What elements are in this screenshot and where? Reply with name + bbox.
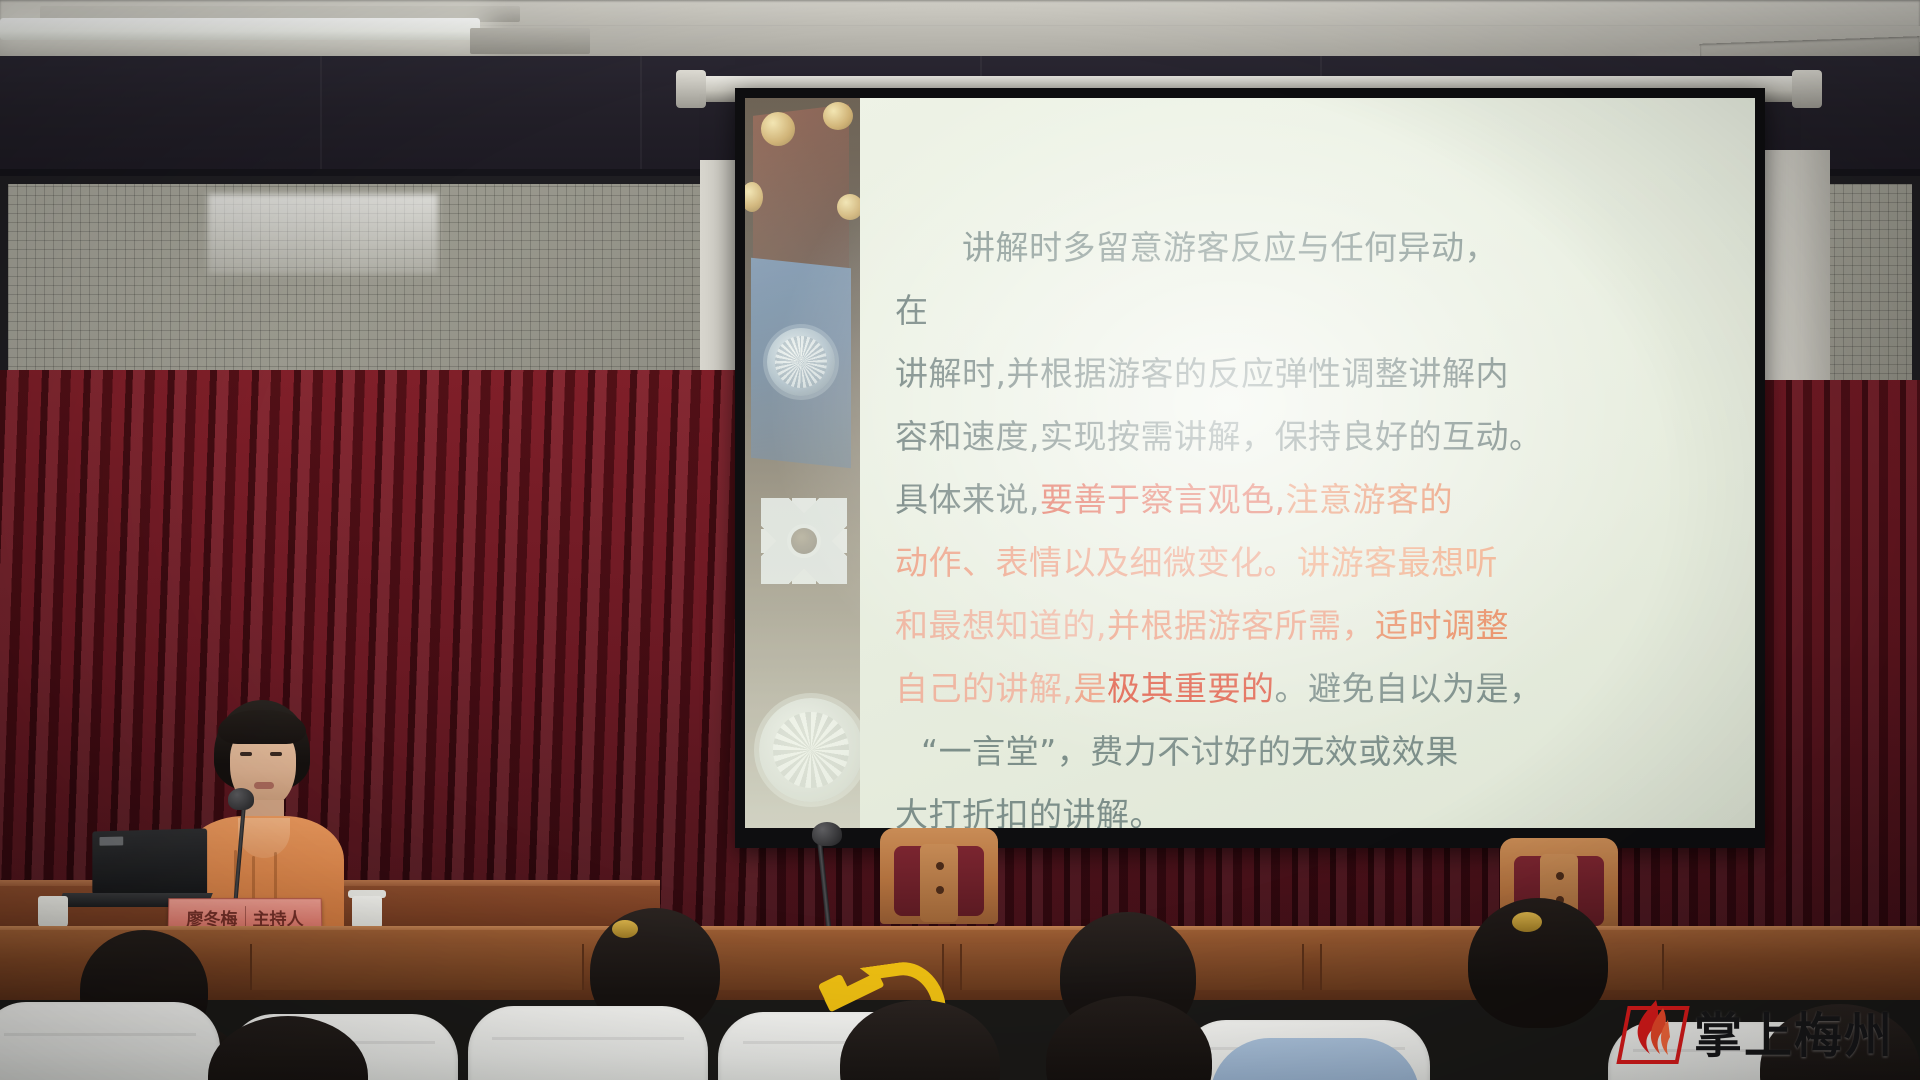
slide-text-segment: 自己的讲解, <box>895 669 1074 708</box>
slide-text-segment: 适时调整 <box>1375 606 1509 645</box>
slide-text-segment: 是 <box>1074 669 1108 708</box>
white-covered-chair <box>0 1002 220 1080</box>
fluorescent-tube-light <box>0 18 480 40</box>
hair-tie <box>612 920 638 938</box>
slide-line: 在 <box>895 279 1725 342</box>
slide-line: 讲解时多留意游客反应与任何异动， <box>895 216 1725 279</box>
slide-text-segment: “一言堂”，费力不讨好的无效或效果 <box>921 732 1459 771</box>
light-end-cap <box>470 28 590 54</box>
slide-text-segment: 大打折扣的讲解。 <box>895 795 1163 828</box>
watermark-brand-text: 掌上梅州 <box>1694 996 1894 1066</box>
slide-text-segment: 讲游客最想听 <box>1297 543 1498 582</box>
slide-text-segment: 极其重要的 <box>1107 669 1275 708</box>
hair-tie <box>1512 912 1542 932</box>
white-covered-chair <box>468 1006 708 1080</box>
flame-icon <box>1630 1000 1670 1058</box>
slide-text-segment: 在 <box>895 291 929 330</box>
slide-line: 讲解时,并根据游客的反应弹性调整讲解内 <box>895 342 1725 405</box>
slide-text-segment: 容和速度,实现按需讲解，保持良好的互动。 <box>895 417 1543 456</box>
slide-text-segment: 动作、表情以及细微变化。 <box>895 543 1297 582</box>
slide-line: 容和速度,实现按需讲解，保持良好的互动。 <box>895 405 1725 468</box>
screen-roller-cap-right <box>1792 70 1822 108</box>
slide-line: 具体来说,要善于察言观色,注意游客的 <box>895 468 1725 531</box>
lecture-hall-photo: 讲解时多留意游客反应与任何异动，在讲解时,并根据游客的反应弹性调整讲解内容和速度… <box>0 0 1920 1080</box>
slide-text-segment: 并根据游客所需， <box>1107 606 1375 645</box>
slide-line: 大打折扣的讲解。 <box>895 783 1725 828</box>
slide-line: 动作、表情以及细微变化。讲游客最想听 <box>895 531 1725 594</box>
slide-line: “一言堂”，费力不讨好的无效或效果 <box>895 720 1725 783</box>
slide-text-segment: 和最想知道的, <box>895 606 1107 645</box>
slide-text-body: 讲解时多留意游客反应与任何异动，在讲解时,并根据游客的反应弹性调整讲解内容和速度… <box>895 216 1725 828</box>
slide-text-segment: 要善于察言观色, <box>1040 480 1286 519</box>
flame-logo-icon <box>1618 1000 1682 1062</box>
water-cup-left <box>38 896 68 928</box>
slide-text-segment: 。避免自以为是， <box>1275 669 1543 708</box>
slide-text-segment: 注意游客的 <box>1286 480 1454 519</box>
slide-text-segment: 讲解时,并根据游客的反应弹性调整讲解内 <box>895 354 1509 393</box>
water-cup <box>352 896 382 930</box>
watermark: 掌上梅州 <box>1618 994 1894 1068</box>
slide-text-segment: 具体来说, <box>895 480 1040 519</box>
table-microphone <box>228 788 254 810</box>
slide-decor-medals-strip <box>745 98 860 828</box>
slide-line: 自己的讲解,是极其重要的。避免自以为是， <box>895 657 1725 720</box>
dais-panel-1 <box>250 944 584 990</box>
audience-shoulders-blue <box>1210 1038 1420 1080</box>
podium-microphone <box>812 822 842 846</box>
slide-text-segment: 讲解时多留意游客反应与任何异动， <box>895 228 1498 267</box>
projection-screen: 讲解时多留意游客反应与任何异动，在讲解时,并根据游客的反应弹性调整讲解内容和速度… <box>745 98 1755 828</box>
screen-roller-cap-left <box>676 70 706 108</box>
slide-line: 和最想知道的,并根据游客所需，适时调整 <box>895 594 1725 657</box>
laptop-computer <box>92 828 207 897</box>
